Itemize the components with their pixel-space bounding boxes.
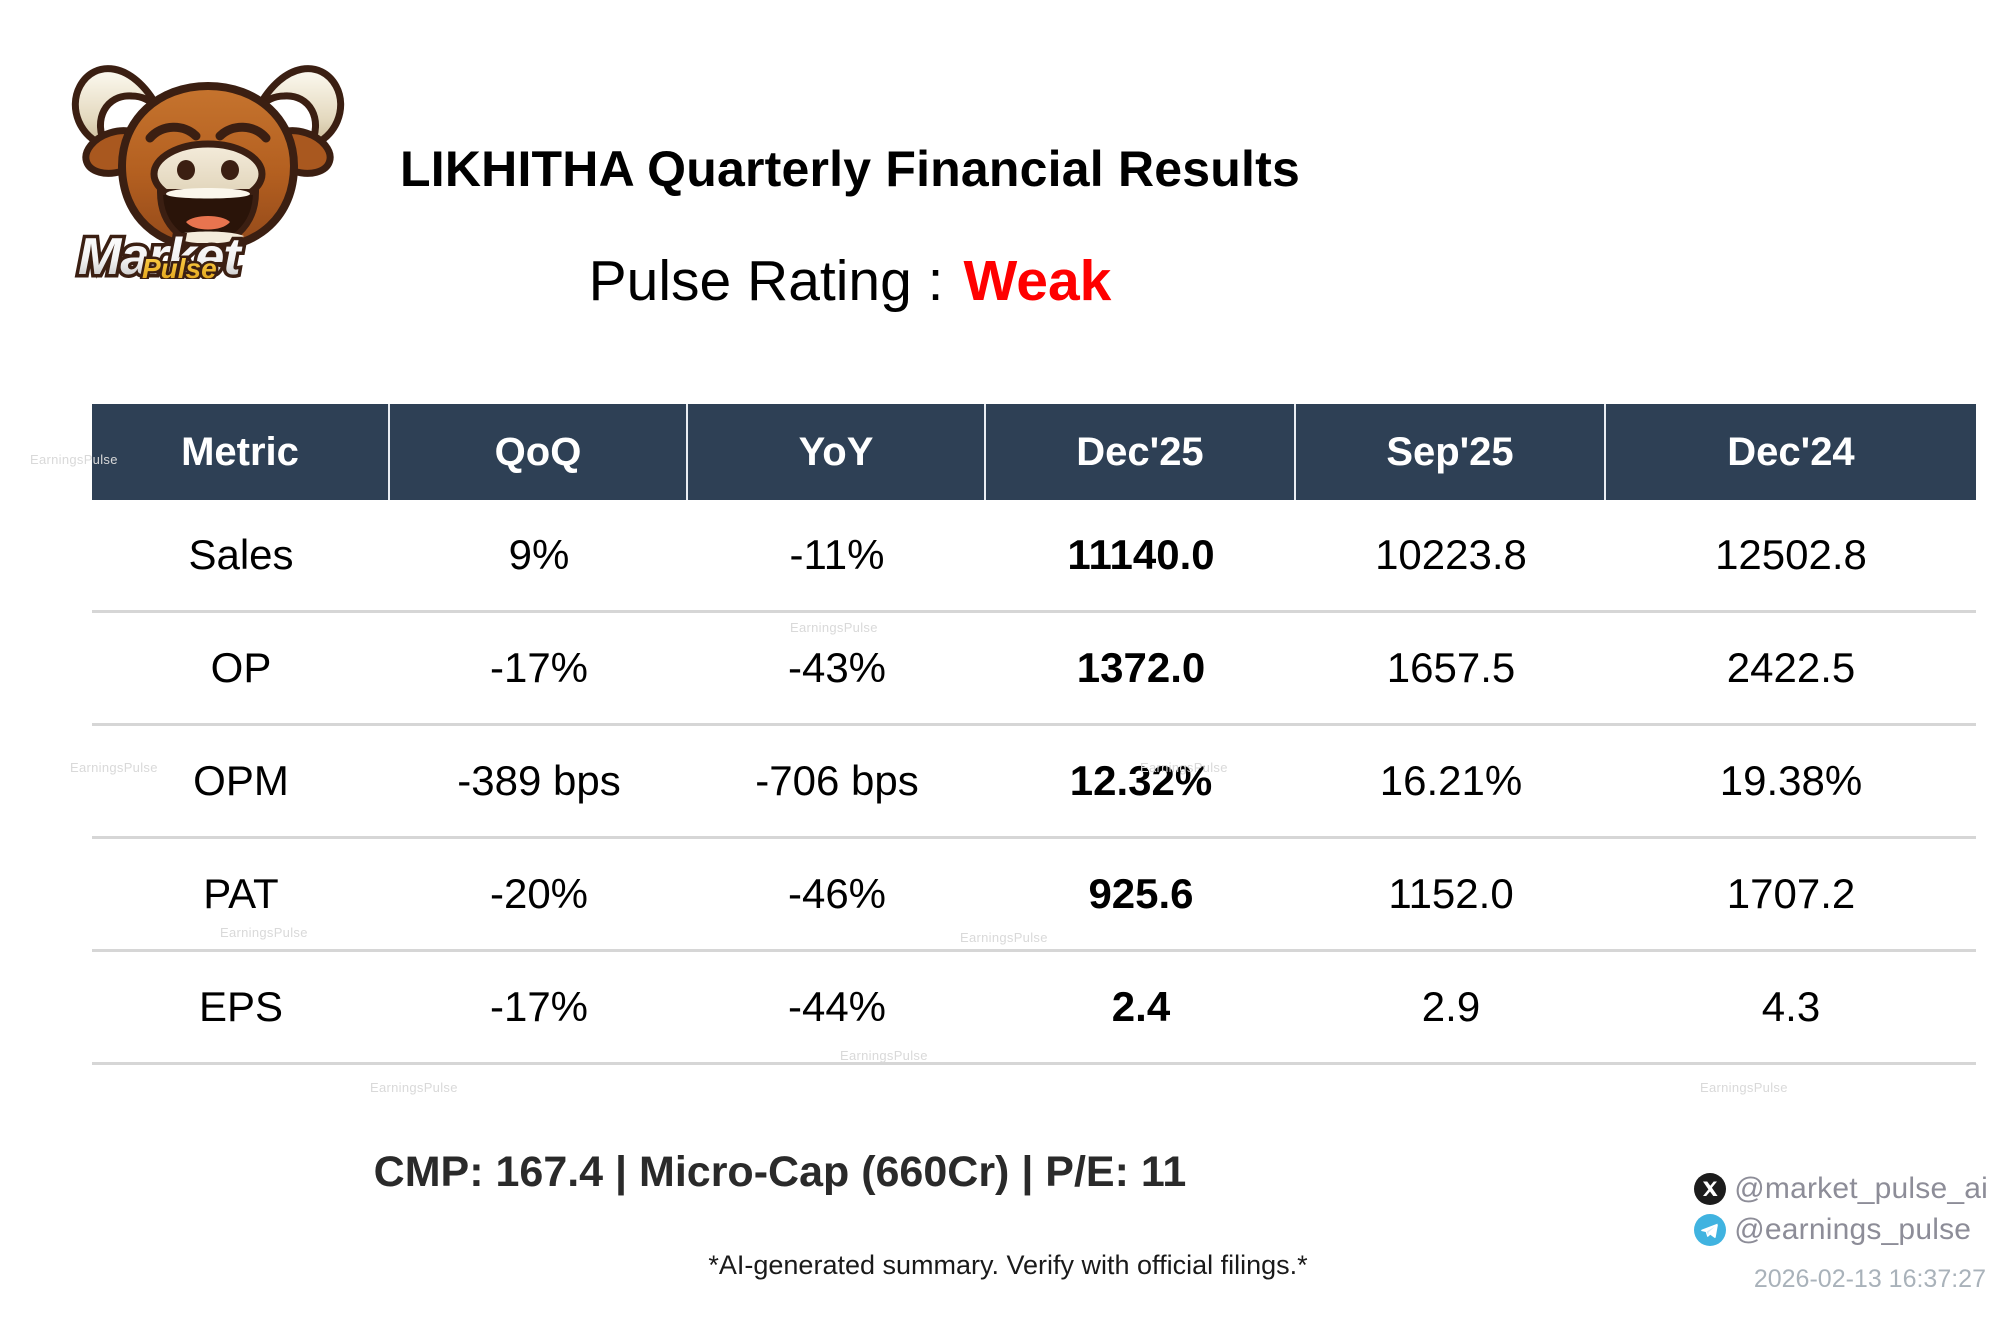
- cell-previous: 1152.0: [1296, 839, 1606, 949]
- cell-yoy: -44%: [688, 952, 986, 1062]
- column-header-dec24: Dec'24: [1606, 404, 1976, 500]
- disclaimer: *AI-generated summary. Verify with offic…: [0, 1250, 2016, 1281]
- table-header-row: Metric QoQ YoY Dec'25 Sep'25 Dec'24: [92, 404, 1976, 500]
- column-header-metric: Metric: [92, 404, 390, 500]
- cell-metric: PAT: [92, 839, 390, 949]
- cell-year-ago: 4.3: [1606, 952, 1976, 1062]
- report-card: Market Pulse LIKHITHA Quarterly Financia…: [0, 0, 2016, 1318]
- pulse-rating: Pulse Rating :Weak: [0, 248, 1700, 314]
- cell-metric: EPS: [92, 952, 390, 1062]
- cell-previous: 1657.5: [1296, 613, 1606, 723]
- valuation-summary: CMP: 167.4 | Micro-Cap (660Cr) | P/E: 11: [0, 1148, 1560, 1197]
- x-twitter-icon: [1693, 1172, 1727, 1206]
- table-row: EPS -17% -44% 2.4 2.9 4.3: [92, 952, 1976, 1065]
- cell-previous: 2.9: [1296, 952, 1606, 1062]
- telegram-icon: [1693, 1213, 1727, 1247]
- cell-metric: OPM: [92, 726, 390, 836]
- cell-current: 12.32%: [986, 726, 1296, 836]
- cell-yoy: -43%: [688, 613, 986, 723]
- cell-metric: OP: [92, 613, 390, 723]
- watermark: EarningsPulse: [370, 1080, 458, 1095]
- column-header-dec25: Dec'25: [986, 404, 1296, 500]
- table-row: Sales 9% -11% 11140.0 10223.8 12502.8: [92, 500, 1976, 613]
- column-header-qoq: QoQ: [390, 404, 688, 500]
- page-title: LIKHITHA Quarterly Financial Results: [0, 140, 1700, 198]
- cell-current: 1372.0: [986, 613, 1296, 723]
- cell-qoq: -17%: [390, 613, 688, 723]
- cell-previous: 16.21%: [1296, 726, 1606, 836]
- social-handles: @market_pulse_ai @earnings_pulse: [1693, 1168, 1988, 1250]
- table-body: Sales 9% -11% 11140.0 10223.8 12502.8 OP…: [92, 500, 1976, 1065]
- cell-year-ago: 1707.2: [1606, 839, 1976, 949]
- generated-timestamp: 2026-02-13 16:37:27: [1754, 1265, 1986, 1294]
- social-handle-x[interactable]: @market_pulse_ai: [1693, 1168, 1988, 1209]
- cell-yoy: -11%: [688, 500, 986, 610]
- cell-year-ago: 12502.8: [1606, 500, 1976, 610]
- cell-current: 11140.0: [986, 500, 1296, 610]
- cell-yoy: -46%: [688, 839, 986, 949]
- table-row: PAT -20% -46% 925.6 1152.0 1707.2: [92, 839, 1976, 952]
- handle-text: @earnings_pulse: [1734, 1213, 1971, 1247]
- cell-current: 925.6: [986, 839, 1296, 949]
- cell-qoq: -389 bps: [390, 726, 688, 836]
- cell-qoq: 9%: [390, 500, 688, 610]
- cell-qoq: -20%: [390, 839, 688, 949]
- cell-metric: Sales: [92, 500, 390, 610]
- cell-yoy: -706 bps: [688, 726, 986, 836]
- table-header: Metric QoQ YoY Dec'25 Sep'25 Dec'24: [92, 404, 1976, 500]
- cell-previous: 10223.8: [1296, 500, 1606, 610]
- table-row: OP -17% -43% 1372.0 1657.5 2422.5: [92, 613, 1976, 726]
- watermark: EarningsPulse: [1700, 1080, 1788, 1095]
- social-handle-telegram[interactable]: @earnings_pulse: [1693, 1209, 1988, 1250]
- cell-current: 2.4: [986, 952, 1296, 1062]
- pulse-rating-label: Pulse Rating :: [589, 249, 944, 313]
- pulse-rating-value: Weak: [963, 249, 1111, 313]
- financial-results-table: Metric QoQ YoY Dec'25 Sep'25 Dec'24 Sale…: [92, 404, 1976, 1065]
- cell-qoq: -17%: [390, 952, 688, 1062]
- table-row: OPM -389 bps -706 bps 12.32% 16.21% 19.3…: [92, 726, 1976, 839]
- handle-text: @market_pulse_ai: [1734, 1172, 1988, 1206]
- column-header-sep25: Sep'25: [1296, 404, 1606, 500]
- cell-year-ago: 2422.5: [1606, 613, 1976, 723]
- cell-year-ago: 19.38%: [1606, 726, 1976, 836]
- column-header-yoy: YoY: [688, 404, 986, 500]
